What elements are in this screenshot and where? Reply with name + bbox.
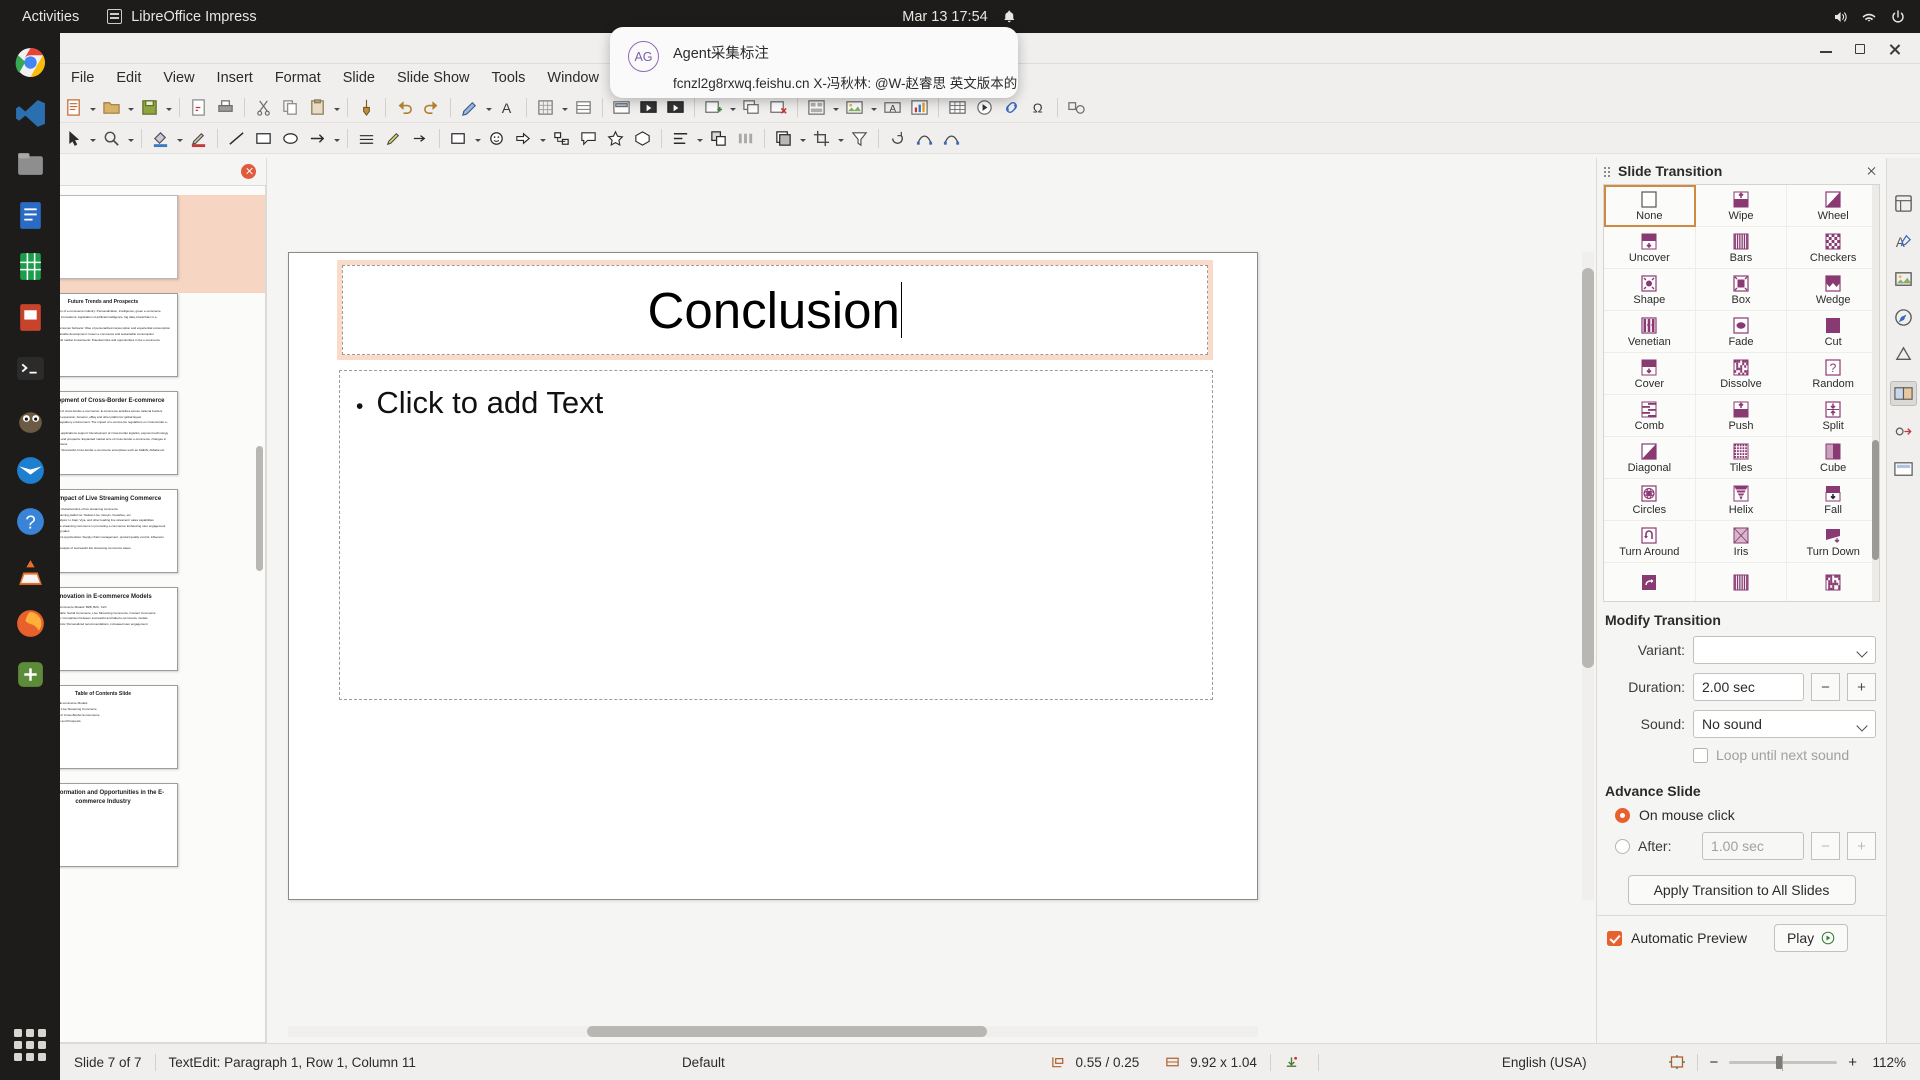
chevron-down-icon[interactable] [125,94,136,121]
transition-turn-down[interactable]: Turn Down [1787,521,1879,563]
transition-panel-footer: Automatic Preview Play [1597,915,1886,960]
menu-insert[interactable]: Insert [206,67,264,89]
line-color-icon [189,129,208,148]
rail-master-slides[interactable] [1890,457,1917,482]
toolbar-separator [179,98,180,117]
transition-item-29[interactable] [1787,563,1879,602]
transition-label: Dissolve [1720,379,1762,390]
new-document-button[interactable] [60,94,87,121]
insert-table-icon [948,98,967,117]
loop-sound-checkbox[interactable] [1693,748,1708,763]
transition-label: Push [1728,421,1753,432]
transition-shape-icon [1637,274,1661,294]
transition-panel-header: Slide Transition [1597,158,1886,184]
transition-none[interactable]: None [1604,185,1696,227]
duration-decrement-button[interactable]: − [1811,673,1840,701]
thunderbird-icon[interactable] [9,449,51,491]
rail-animation[interactable] [1890,419,1917,444]
chevron-down-icon[interactable] [694,125,705,152]
new-document-icon [64,98,83,117]
transition-label: None [1636,211,1662,222]
zoom-button[interactable] [98,125,125,152]
filter-icon [850,129,869,148]
status-size-value: 9.92 x 1.04 [1190,1055,1257,1070]
rail-navigator[interactable] [1890,305,1917,330]
after-decrement-button[interactable]: − [1811,832,1840,860]
toolbar-separator [450,98,451,117]
crop-icon [812,129,831,148]
active-app-indicator[interactable]: LibreOffice Impress [93,9,270,25]
save-button[interactable] [136,94,163,121]
stars-button[interactable] [602,125,629,152]
transition-grid-wrapper: NoneWipeWheelUncoverBarsCheckersShapeBox… [1603,184,1880,602]
status-divider [1697,1054,1698,1071]
rectangle-icon [254,129,273,148]
transition-label: Turn Down [1806,547,1859,558]
automatic-preview-checkbox[interactable] [1607,931,1622,946]
arrange-icon [709,129,728,148]
body-placeholder-text: Click to add Text [376,385,603,421]
properties-icon [1893,193,1914,214]
active-app-label: LibreOffice Impress [131,9,256,25]
redo-button[interactable] [418,94,445,121]
transition-uncover[interactable]: Uncover [1604,227,1696,269]
toolbar-separator [694,98,695,117]
chevron-down-icon[interactable] [483,94,494,121]
transition-shape[interactable]: Shape [1604,269,1696,311]
basic-shapes-icon [449,129,468,148]
transition-fade[interactable]: Fade [1696,311,1788,353]
libreoffice-calc-icon[interactable] [9,245,51,287]
redo-icon [422,98,441,117]
highlight-icon [384,129,403,148]
display-grid-button[interactable] [532,94,559,121]
transition-turn-around-icon [1637,526,1661,546]
libreoffice-impress-icon[interactable] [9,296,51,338]
transition-item-27[interactable] [1604,563,1696,602]
delete-slide-icon [769,98,788,117]
editor-hscrollbar-thumb[interactable] [587,1026,987,1037]
toolbar-separator [602,98,603,117]
transition-none-icon [1637,190,1661,210]
chevron-down-icon[interactable] [797,125,808,152]
points-icon [915,129,934,148]
window-controls [1818,33,1914,64]
helplines-icon [574,98,593,117]
transition-label: Circles [1633,505,1667,516]
apply-transition-to-all-button[interactable]: Apply Transition to All Slides [1628,875,1856,905]
menu-format[interactable]: Format [264,67,332,89]
print-button[interactable] [212,94,239,121]
transition-turn-around[interactable]: Turn Around [1604,521,1696,563]
transition-iris[interactable]: Iris [1696,521,1788,563]
menu-slide-show[interactable]: Slide Show [386,67,481,89]
toolbar-separator [526,98,527,117]
sound-row: Sound: No sound [1597,710,1886,747]
duration-value: 2.00 sec [1702,679,1755,695]
transition-fade-icon [1729,316,1753,336]
transition-label: Cut [1825,337,1842,348]
menu-file[interactable]: File [60,67,105,89]
transition-checkers[interactable]: Checkers [1787,227,1879,269]
transition-label: Cube [1820,463,1846,474]
play-button[interactable]: Play [1774,924,1848,952]
on-mouse-click-radio[interactable] [1615,808,1630,823]
shapes-icon [1893,345,1914,366]
vscode-icon[interactable] [9,92,51,134]
rail-slide-transition[interactable] [1890,381,1917,406]
svg-text:A: A [502,101,512,117]
body-placeholder[interactable]: • Click to add Text [339,370,1213,700]
sound-value: No sound [1702,716,1762,732]
transition-tiles[interactable]: Tiles [1696,437,1788,479]
rail-styles[interactable]: A [1890,229,1917,254]
after-row: After: 1.00 sec − + [1597,832,1886,869]
transition-comb-icon [1637,400,1661,420]
after-radio[interactable] [1615,839,1630,854]
transition-box-icon [1729,274,1753,294]
files-icon[interactable] [9,143,51,185]
slide-panel-scrollbar[interactable] [256,446,263,571]
arrow-style-button[interactable] [407,125,434,152]
undo-button[interactable] [391,94,418,121]
menu-window[interactable]: Window [536,67,610,89]
help-icon[interactable]: ? [9,500,51,542]
transition-dissolve[interactable]: Dissolve [1696,353,1788,395]
insert-chart-icon [910,98,929,117]
gimp-icon[interactable] [9,398,51,440]
menu-tools[interactable]: Tools [481,67,537,89]
notification-popup[interactable]: AG Agent采集标注 fcnzl2g8rxwq.feishu.cn X-冯秋… [610,27,1018,98]
transition-label: Diagonal [1628,463,1671,474]
transition-label: Fade [1728,337,1753,348]
rotate-icon [888,129,907,148]
show-draw-functions-icon [1067,98,1086,117]
points-button[interactable] [911,125,938,152]
align-icon [671,129,690,148]
shadow-button[interactable] [770,125,797,152]
zoom-slider-tick [1782,1054,1783,1071]
line-button[interactable] [223,125,250,152]
transition-label: Iris [1734,547,1749,558]
toolbar-separator [878,129,879,148]
ellipse-button[interactable] [277,125,304,152]
transition-comb[interactable]: Comb [1604,395,1696,437]
variant-select[interactable] [1693,636,1876,664]
transition-iris-icon [1729,526,1753,546]
transition-label: Split [1822,421,1843,432]
drag-grip-icon[interactable] [1603,166,1611,177]
animation-icon [1893,421,1914,442]
sidebar-tab-rail: A [1886,158,1920,1043]
transition-label: Wheel [1818,211,1849,222]
chevron-down-icon[interactable] [331,94,342,121]
copy-button[interactable] [277,94,304,121]
clock-label: Mar 13 17:54 [902,9,987,25]
transition-diagonal[interactable]: Diagonal [1604,437,1696,479]
zoom-controls: − + 112% [1668,1054,1920,1071]
chevron-down-icon[interactable] [331,125,342,152]
transition-helix[interactable]: Helix [1696,479,1788,521]
slide-title-text: Conclusion [648,281,900,340]
transition-label: Venetian [1628,337,1671,348]
transition-panel-title: Slide Transition [1618,163,1722,179]
transition-turn-down-icon [1821,526,1845,546]
crop-button[interactable] [808,125,835,152]
transition-helix-icon [1729,484,1753,504]
status-bar: Slide 7 of 7 TextEdit: Paragraph 1, Row … [0,1043,1920,1080]
transition-push[interactable]: Push [1696,395,1788,437]
glue-points-button[interactable] [938,125,965,152]
chrome-icon[interactable] [9,41,51,83]
status-save-state[interactable] [1271,1055,1318,1070]
arrow-style-icon [411,129,430,148]
transition-wedge-icon [1821,274,1845,294]
size-icon [1165,1055,1180,1069]
terminal-icon[interactable] [9,347,51,389]
variant-label: Variant: [1605,642,1685,658]
title-placeholder[interactable]: Conclusion [337,260,1213,360]
zoom-icon [102,129,121,148]
rail-shapes[interactable] [1890,343,1917,368]
close-icon[interactable] [1864,164,1878,178]
transition-cover[interactable]: Cover [1604,353,1696,395]
toolbar-separator [938,98,939,117]
fill-color-icon [151,129,170,148]
toolbar-separator [217,129,218,148]
undo-icon [395,98,414,117]
menu-edit[interactable]: Edit [105,67,152,89]
zoom-out-button[interactable]: − [1709,1054,1718,1071]
insert-textbox-icon: A [883,98,902,117]
gnome-clock[interactable]: Mar 13 17:54 [902,9,1017,25]
vlc-icon[interactable] [9,551,51,593]
open-icon [102,98,121,117]
chevron-down-icon[interactable] [174,125,185,152]
transition-bars[interactable]: Bars [1696,227,1788,269]
transition-label: Wipe [1728,211,1753,222]
duration-increment-button[interactable]: + [1847,673,1876,701]
cut-button[interactable] [250,94,277,121]
show-applications-icon[interactable] [9,1024,51,1066]
fill-color-button[interactable] [147,125,174,152]
slide-transition-icon [1893,383,1914,404]
text-cursor [901,282,903,338]
block-arrows-icon [514,129,533,148]
zoom-level-label[interactable]: 112% [1868,1055,1906,1070]
navigator-icon [1893,307,1914,328]
chevron-down-icon[interactable] [125,125,136,152]
transition-split-icon [1821,400,1845,420]
arrange-button[interactable] [705,125,732,152]
transition-label: Helix [1729,505,1753,516]
save-icon [140,98,159,117]
sound-select[interactable]: No sound [1693,710,1876,738]
distribute-button[interactable] [732,125,759,152]
chevron-down-icon[interactable] [87,125,98,152]
select-icon [64,129,83,148]
arrow-button[interactable] [304,125,331,152]
toolbar-separator [141,129,142,148]
transition-label: Comb [1635,421,1664,432]
media-icon [975,98,994,117]
rotate-button[interactable] [884,125,911,152]
libreoffice-writer-icon[interactable] [9,194,51,236]
transition-venetian[interactable]: Venetian [1604,311,1696,353]
notification-title: Agent采集标注 [673,42,1018,63]
transition-diagonal-icon [1637,442,1661,462]
maximize-button[interactable] [1852,41,1868,57]
clone-formatting-button[interactable] [353,94,380,121]
transition-dissolve-icon [1729,358,1753,378]
transition-item-28[interactable] [1696,563,1788,602]
transition-wheel-icon [1821,190,1845,210]
on-mouse-click-row[interactable]: On mouse click [1597,807,1886,832]
print-icon [216,98,235,117]
libreoffice-impress-icon [107,9,122,24]
transition-wheel[interactable]: Wheel [1787,185,1879,227]
symbol-shapes-icon [487,129,506,148]
unsaved-changes-icon [1284,1055,1299,1069]
stars-icon [606,129,625,148]
toolbar-separator [244,98,245,117]
transition-rotate-icon [1637,573,1661,593]
chevron-down-icon[interactable] [472,125,483,152]
system-tray[interactable] [1832,9,1906,25]
slide-edit-area[interactable]: Conclusion • Click to add Text [267,158,1596,1043]
symbol-shapes-button[interactable] [483,125,510,152]
flowchart-button[interactable] [548,125,575,152]
filter-button[interactable] [846,125,873,152]
rail-properties[interactable] [1890,191,1917,216]
line-color-button[interactable] [185,125,212,152]
transition-random[interactable]: ?Random [1787,353,1879,395]
bullet-icon: • [356,395,363,419]
slide-canvas[interactable]: Conclusion • Click to add Text [288,252,1258,900]
start-from-current-icon [666,98,685,117]
zoom-in-button[interactable]: + [1848,1054,1857,1071]
transition-wedge[interactable]: Wedge [1787,269,1879,311]
paste-icon [308,98,327,117]
menu-slide[interactable]: Slide [332,67,386,89]
zoom-slider[interactable] [1729,1061,1837,1064]
spelling-button[interactable] [456,94,483,121]
activities-button[interactable]: Activities [0,9,93,25]
status-position: 0.55 / 0.25 [1038,1055,1153,1070]
transition-cube[interactable]: Cube [1787,437,1879,479]
toolbar-separator [764,129,765,148]
rail-gallery[interactable] [1890,267,1917,292]
toolbar-separator [347,129,348,148]
transition-cut[interactable]: Cut [1787,311,1879,353]
toolbar-separator [347,98,348,117]
transition-circles[interactable]: Circles [1604,479,1696,521]
transition-box[interactable]: Box [1696,269,1788,311]
position-icon [1051,1055,1066,1069]
arrow-icon [308,129,327,148]
transition-bars-icon [1729,232,1753,252]
advance-slide-title: Advance Slide [1597,773,1886,807]
transition-wipe[interactable]: Wipe [1696,185,1788,227]
chevron-down-icon[interactable] [87,94,98,121]
new-slide-icon [704,98,723,117]
chevron-down-icon [1856,720,1867,731]
transition-label: Uncover [1629,253,1670,264]
zoom-slider-handle[interactable] [1776,1056,1782,1069]
shadow-icon [774,129,793,148]
toolbar-separator [661,129,662,148]
block-arrows-button[interactable] [510,125,537,152]
status-master-slide: Default [669,1055,738,1070]
spelling-icon [460,98,479,117]
glue-points-icon [942,129,961,148]
after-duration-value: 1.00 sec [1711,838,1764,854]
highlight-button[interactable] [380,125,407,152]
transition-label: Box [1732,295,1751,306]
transition-grid-scrollbar-thumb[interactable] [1872,440,1879,560]
sound-label: Sound: [1605,716,1685,732]
align-button[interactable] [667,125,694,152]
helplines-button[interactable] [570,94,597,121]
ellipse-icon [281,129,300,148]
menu-view[interactable]: View [152,67,205,89]
line-icon [227,129,246,148]
after-increment-button[interactable]: + [1847,832,1876,860]
software-icon[interactable] [9,653,51,695]
3d-objects-icon [633,129,652,148]
status-language: English (USA) [1489,1055,1600,1070]
3d-objects-button[interactable] [629,125,656,152]
loop-sound-row[interactable]: Loop until next sound [1597,747,1886,773]
editor-vscrollbar-thumb[interactable] [1582,268,1594,668]
after-duration-input[interactable]: 1.00 sec [1702,832,1804,860]
basic-shapes-button[interactable] [445,125,472,152]
transition-grid[interactable]: NoneWipeWheelUncoverBarsCheckersShapeBox… [1604,185,1879,602]
transition-label: Bars [1730,253,1753,264]
notification-body: fcnzl2g8rxwq.feishu.cn X-冯秋林: @W-赵睿思 英文版… [673,72,1018,92]
select-button[interactable] [60,125,87,152]
export-pdf-icon [189,98,208,117]
gallery-icon [1893,269,1914,290]
minimize-button[interactable] [1818,41,1834,57]
transition-fall[interactable]: Fall [1787,479,1879,521]
chevron-down-icon[interactable] [537,125,548,152]
duration-input[interactable]: 2.00 sec [1693,673,1804,701]
firefox-icon[interactable] [9,602,51,644]
chevron-down-icon[interactable] [835,125,846,152]
chevron-down-icon[interactable] [559,94,570,121]
clone-formatting-icon [357,98,376,117]
callouts-button[interactable] [575,125,602,152]
show-draw-functions-button[interactable] [1063,94,1090,121]
transition-split[interactable]: Split [1787,395,1879,437]
svg-text:Ω: Ω [1033,100,1043,115]
fit-slide-icon[interactable] [1668,1054,1686,1070]
open-button[interactable] [98,94,125,121]
formatting-marks-button[interactable]: A [494,94,521,121]
rectangle-button[interactable] [250,125,277,152]
formatting-marks-icon: A [498,98,517,117]
chevron-down-icon[interactable] [163,94,174,121]
network-icon [1861,9,1877,25]
close-icon[interactable] [241,164,256,179]
paste-button[interactable] [304,94,331,121]
close-window-button[interactable] [1886,41,1902,57]
export-pdf-button[interactable] [185,94,212,121]
after-label: After: [1638,838,1694,854]
line-style-button[interactable] [353,125,380,152]
special-character-button[interactable]: Ω [1025,94,1052,121]
